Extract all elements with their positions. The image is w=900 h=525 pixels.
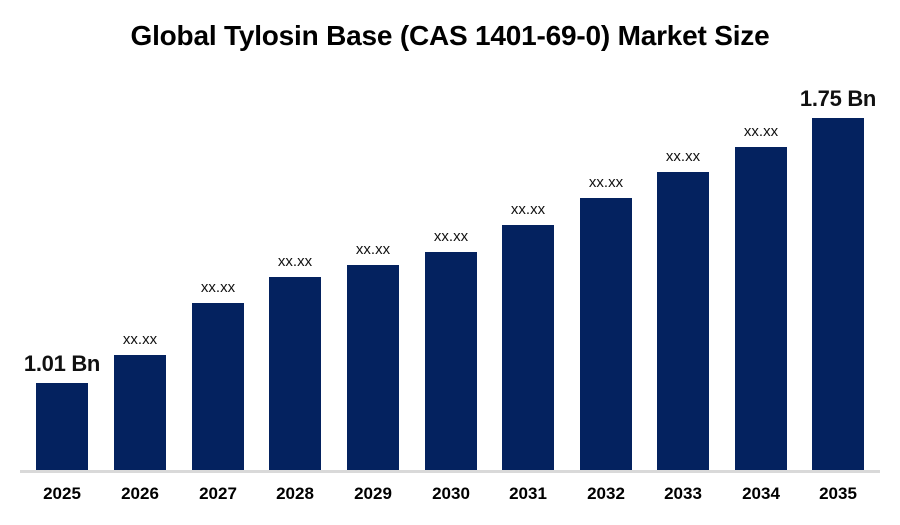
bar-rect[interactable] — [425, 252, 477, 470]
bar-group[interactable]: xx.xx2028 — [269, 0, 321, 525]
bar-group[interactable]: xx.xx2031 — [502, 0, 554, 525]
bar-group[interactable]: xx.xx2032 — [580, 0, 632, 525]
bar-rect[interactable] — [502, 225, 554, 470]
bar-group[interactable]: xx.xx2026 — [114, 0, 166, 525]
bar-rect[interactable] — [735, 147, 787, 470]
chart-canvas: Global Tylosin Base (CAS 1401-69-0) Mark… — [0, 0, 900, 525]
bar-rect[interactable] — [114, 355, 166, 470]
bar-rect[interactable] — [269, 277, 321, 470]
bar-rect[interactable] — [812, 118, 864, 470]
bar-group[interactable]: xx.xx2034 — [735, 0, 787, 525]
bar-group[interactable]: xx.xx2033 — [657, 0, 709, 525]
bar-group[interactable]: xx.xx2030 — [425, 0, 477, 525]
bar-rect[interactable] — [657, 172, 709, 470]
bar-rect[interactable] — [192, 303, 244, 470]
bar-rect[interactable] — [580, 198, 632, 470]
bar-group[interactable]: 1.75 Bn2035 — [812, 0, 864, 525]
bar-group[interactable]: xx.xx2029 — [347, 0, 399, 525]
bar-group[interactable]: 1.01 Bn2025 — [36, 0, 88, 525]
bar-rect[interactable] — [347, 265, 399, 470]
x-axis-tick-label: 2035 — [778, 484, 898, 504]
bar-rect[interactable] — [36, 383, 88, 470]
bar-value-label: 1.75 Bn — [758, 86, 900, 112]
plot-area: 1.01 Bn2025xx.xx2026xx.xx2027xx.xx2028xx… — [0, 0, 900, 525]
